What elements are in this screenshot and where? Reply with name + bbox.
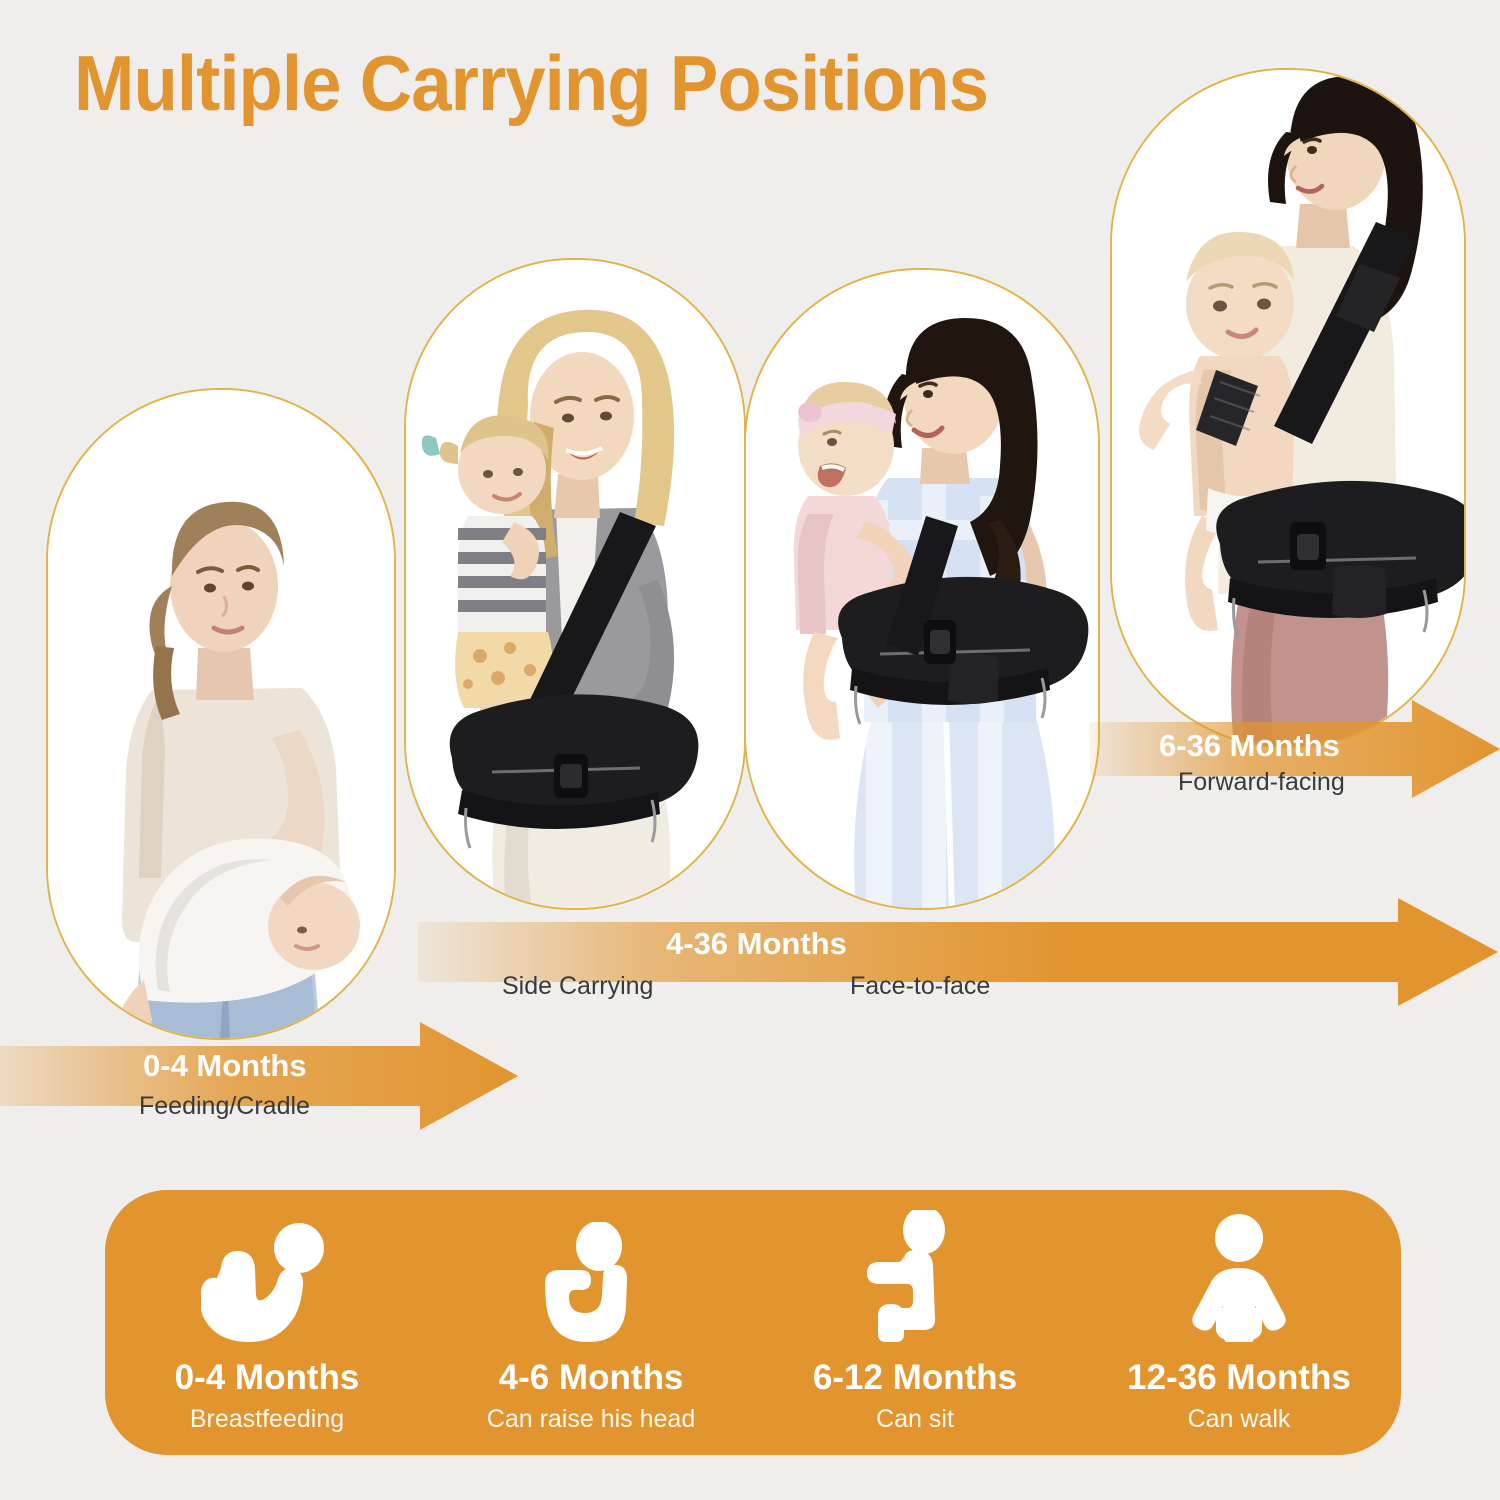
mother-cradling-newborn-photo (48, 390, 394, 1038)
arrow-4-36-months-age: 4-36 Months (666, 926, 847, 962)
milestone-age-0-4-months: 0-4 Months (175, 1358, 360, 1398)
milestone-desc-0-4-months: Breastfeeding (190, 1405, 344, 1434)
photo-panel-feeding-cradle (46, 388, 396, 1040)
milestone-age-4-6-months: 4-6 Months (499, 1358, 684, 1398)
mother-face-to-face-baby-photo (746, 270, 1098, 908)
arrow-6-36-months-age: 6-36 Months (1159, 728, 1340, 764)
baby-breastfeeding-icon (201, 1212, 333, 1342)
toddler-standing-icon (1184, 1212, 1294, 1342)
photo-panel-face-to-face (744, 268, 1100, 910)
page-title: Multiple Carrying Positions (74, 38, 988, 129)
photo-panel-side-carrying (404, 258, 746, 910)
milestone-desc-12-36-months: Can walk (1188, 1405, 1291, 1434)
infographic-canvas: Multiple Carrying Positions (0, 0, 1500, 1500)
arrow-6-36-months-caption: Forward-facing (1178, 768, 1345, 797)
arrow-4-36-months-caption-face: Face-to-face (850, 972, 990, 1001)
milestone-desc-4-6-months: Can raise his head (487, 1405, 695, 1434)
milestone-item-0-4-months: 0-4 Months Breastfeeding (105, 1190, 429, 1455)
mother-forward-facing-baby-photo (1112, 70, 1464, 746)
milestone-item-12-36-months: 12-36 Months Can walk (1077, 1190, 1401, 1455)
baby-raising-head-icon (531, 1212, 651, 1342)
milestone-desc-6-12-months: Can sit (876, 1405, 954, 1434)
arrow-0-4-months-age: 0-4 Months (143, 1048, 307, 1084)
arrow-4-36-months-caption-side: Side Carrying (502, 972, 653, 1001)
milestone-item-4-6-months: 4-6 Months Can raise his head (429, 1190, 753, 1455)
milestone-age-6-12-months: 6-12 Months (813, 1358, 1017, 1398)
milestone-age-12-36-months: 12-36 Months (1127, 1358, 1351, 1398)
milestone-bar: 0-4 Months Breastfeeding 4-6 Months Can … (105, 1190, 1401, 1455)
mother-side-carrying-toddler-photo (406, 260, 744, 908)
baby-sitting-icon (860, 1212, 970, 1342)
photo-panel-forward-facing (1110, 68, 1466, 748)
arrow-0-4-months-caption: Feeding/Cradle (139, 1092, 310, 1121)
milestone-item-6-12-months: 6-12 Months Can sit (753, 1190, 1077, 1455)
